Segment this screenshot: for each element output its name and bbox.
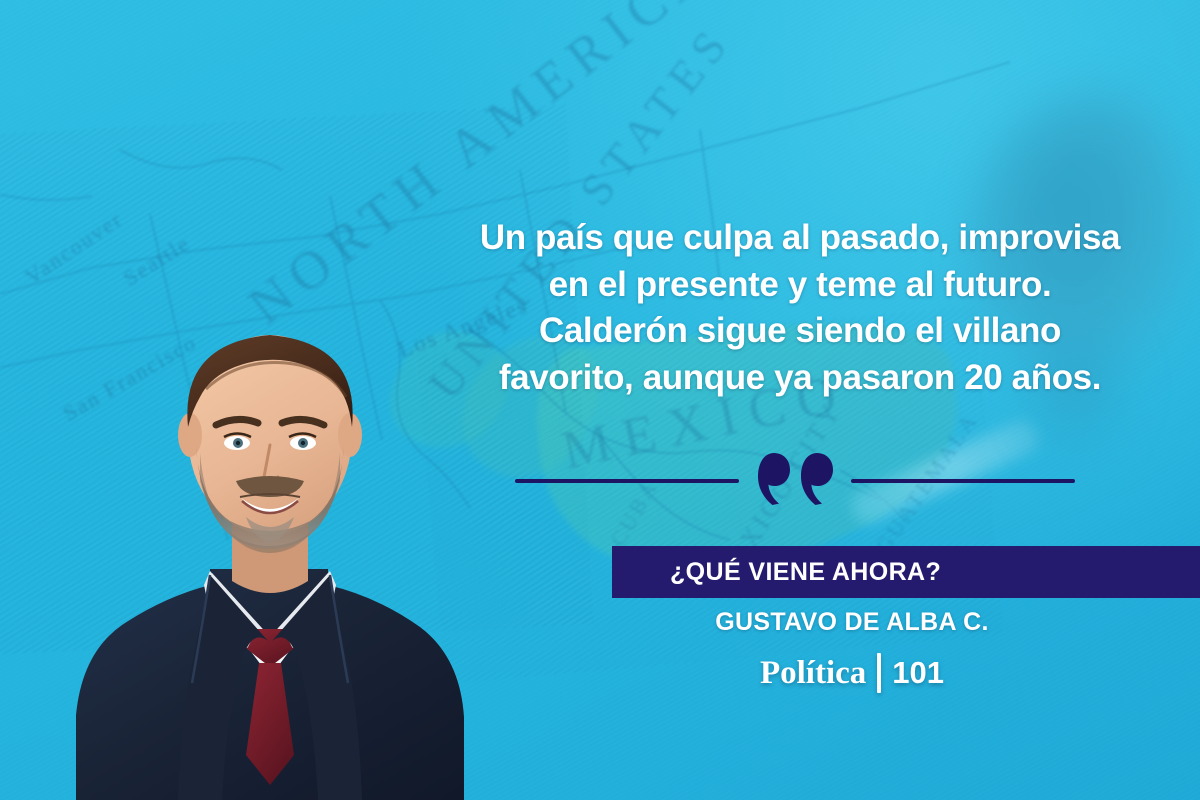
divider-rule-left [515, 479, 739, 483]
closing-quote-icon [739, 452, 851, 510]
quote-line-2: en el presente y teme al futuro. [430, 262, 1170, 309]
logo-divider-bar [877, 653, 881, 693]
brand-logo: Política 101 [612, 653, 1092, 693]
logo-wordmark: Política [760, 655, 866, 692]
logo-number: 101 [892, 655, 944, 691]
quote-glyph-right [800, 452, 834, 506]
quote-divider [515, 452, 1075, 510]
author-portrait [60, 285, 480, 800]
author-name: GUSTAVO DE ALBA C. [612, 608, 1092, 637]
poster-canvas: NORTH AMERICA UNITED STATES Vancouver Se… [0, 0, 1200, 800]
quote-line-1: Un país que culpa al pasado, improvisa [430, 215, 1170, 262]
divider-rule-right [851, 479, 1075, 483]
quote-text: Un país que culpa al pasado, improvisa e… [430, 215, 1170, 401]
quote-line-3: Calderón sigue siendo el villano [430, 308, 1170, 355]
portrait-illustration [60, 285, 480, 800]
quote-line-4: favorito, aunque ya pasaron 20 años. [430, 355, 1170, 402]
quote-glyph-left [757, 452, 791, 506]
banner-label: ¿QUÉ VIENE AHORA? [670, 558, 941, 587]
section-banner: ¿QUÉ VIENE AHORA? [612, 546, 1200, 598]
